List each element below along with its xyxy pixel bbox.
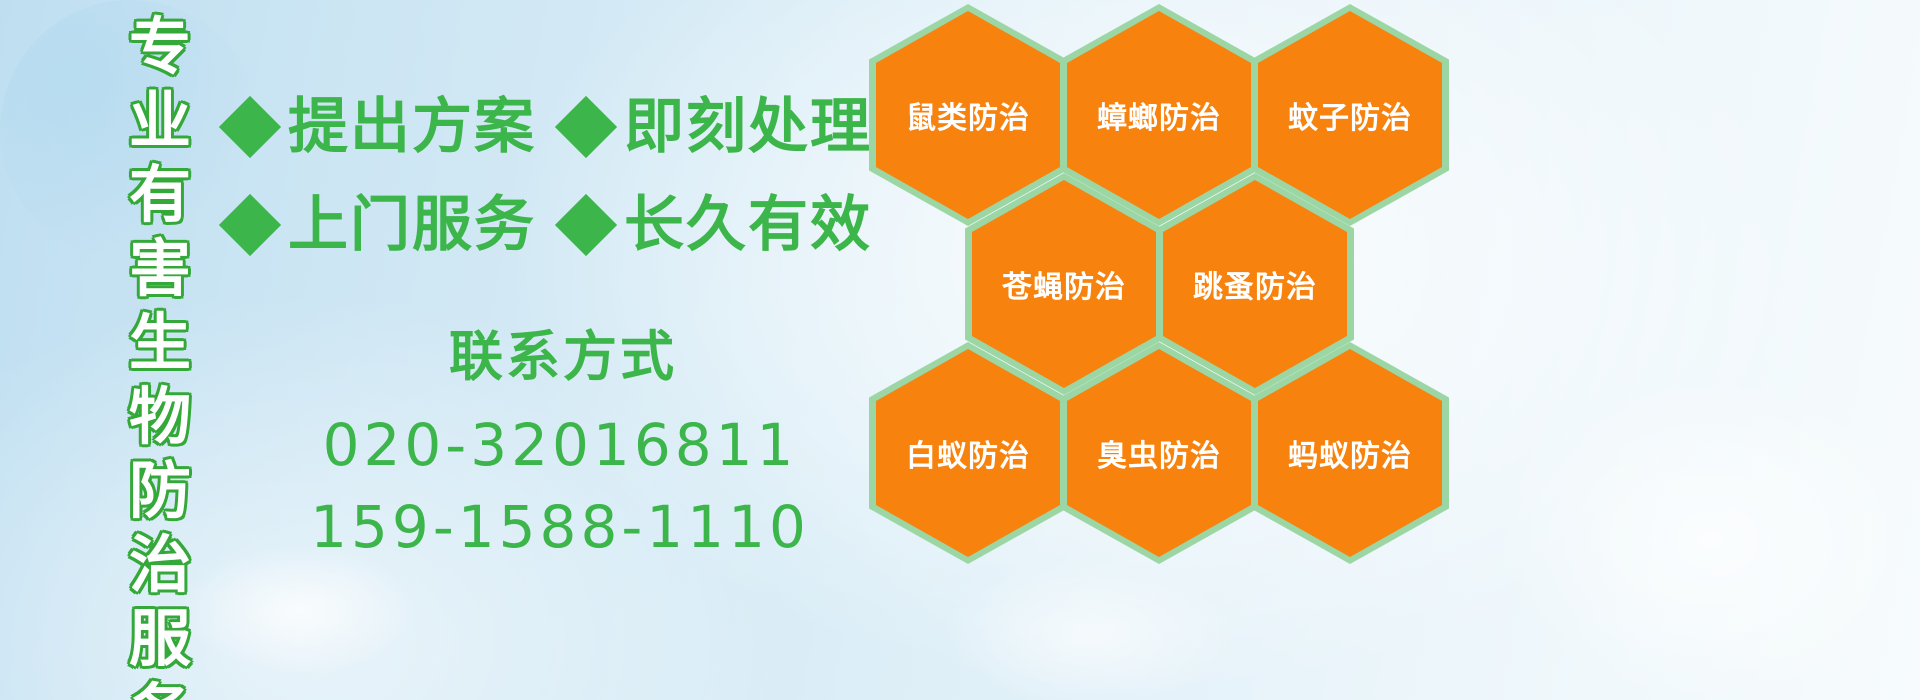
headline-char: 生 <box>129 306 191 380</box>
phone-number-mobile[interactable]: 159-1588-1110 <box>250 486 870 568</box>
diamond-icon <box>219 194 281 256</box>
service-label: 苍蝇防治 <box>1002 262 1126 306</box>
headline-char: 专 <box>129 10 191 84</box>
hex-inner: 鼠类防治 <box>876 11 1060 219</box>
hex-inner: 蚊子防治 <box>1258 11 1442 219</box>
service-label: 鼠类防治 <box>906 93 1030 137</box>
bullet-item: 长久有效 <box>564 195 872 255</box>
service-honeycomb: 鼠类防治 蟑螂防治 蚊子防治 苍蝇防治 跳蚤防治 白蚁防治 <box>855 0 1475 700</box>
headline-char: 害 <box>129 232 191 306</box>
vertical-headline: 专 业 有 害 生 物 防 治 服 务 <box>108 10 212 680</box>
headline-char: 服 <box>129 602 191 676</box>
headline-char: 防 <box>129 454 191 528</box>
headline-char: 治 <box>129 528 191 602</box>
bullet-item: 上门服务 <box>228 195 536 255</box>
headline-char: 业 <box>129 84 191 158</box>
hex-inner: 跳蚤防治 <box>1163 180 1347 388</box>
bullet-label: 即刻处理 <box>624 97 872 157</box>
service-label: 蚂蚁防治 <box>1288 431 1412 475</box>
hex-inner: 白蚁防治 <box>876 349 1060 557</box>
bullet-label: 上门服务 <box>288 195 536 255</box>
hex-inner: 蟑螂防治 <box>1067 11 1251 219</box>
phone-number-landline[interactable]: 020-32016811 <box>250 404 870 486</box>
bullet-row: 提出方案 即刻处理 <box>228 78 888 176</box>
service-label: 蚊子防治 <box>1288 93 1412 137</box>
diamond-icon <box>219 96 281 158</box>
service-label: 臭虫防治 <box>1097 431 1221 475</box>
promo-banner: 专 业 有 害 生 物 防 治 服 务 提出方案 即刻处理 上门服务 <box>0 0 1920 700</box>
hex-inner: 苍蝇防治 <box>972 180 1156 388</box>
bullet-label: 长久有效 <box>624 195 872 255</box>
diamond-icon <box>555 194 617 256</box>
feature-bullets: 提出方案 即刻处理 上门服务 长久有效 <box>228 78 888 274</box>
contact-block: 联系方式 020-32016811 159-1588-1110 <box>250 320 870 568</box>
hex-inner: 臭虫防治 <box>1067 349 1251 557</box>
bullet-label: 提出方案 <box>288 97 536 157</box>
diamond-icon <box>555 96 617 158</box>
bullet-item: 即刻处理 <box>564 97 872 157</box>
service-label: 跳蚤防治 <box>1193 262 1317 306</box>
bullet-row: 上门服务 长久有效 <box>228 176 888 274</box>
headline-char: 物 <box>129 380 191 454</box>
hex-inner: 蚂蚁防治 <box>1258 349 1442 557</box>
service-label: 白蚁防治 <box>906 431 1030 475</box>
bullet-item: 提出方案 <box>228 97 536 157</box>
background-blob <box>1500 380 1920 700</box>
service-label: 蟑螂防治 <box>1097 93 1221 137</box>
headline-char: 务 <box>129 676 191 700</box>
headline-char: 有 <box>129 158 191 232</box>
contact-title: 联系方式 <box>256 320 870 394</box>
